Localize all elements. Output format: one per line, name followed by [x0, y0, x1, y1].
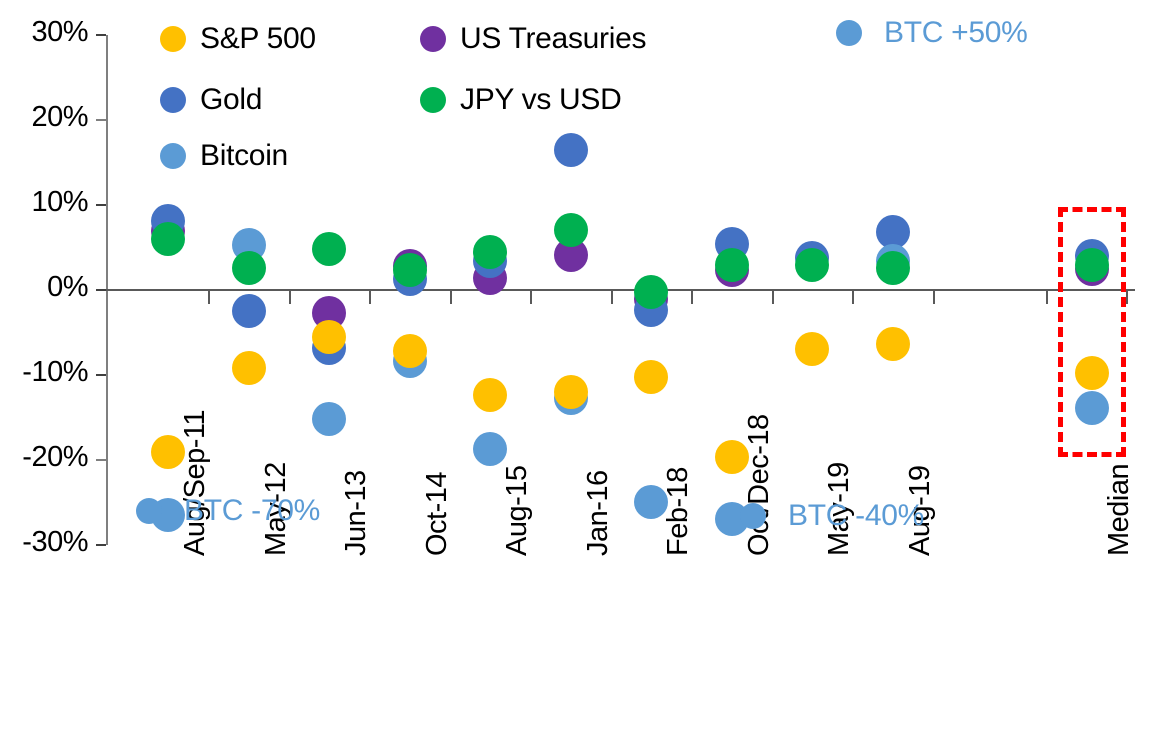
- data-point: [393, 334, 427, 368]
- data-point: [151, 222, 185, 256]
- x-tick-mark: [208, 290, 210, 304]
- x-axis-label: Aug-15: [501, 465, 534, 556]
- x-tick-mark: [933, 290, 935, 304]
- x-tick-mark: [1126, 290, 1128, 304]
- x-tick-mark: [611, 290, 613, 304]
- legend-item-us-treasuries[interactable]: US Treasuries: [420, 22, 646, 56]
- data-point: [715, 248, 749, 282]
- x-tick-mark: [289, 290, 291, 304]
- annotation-label: BTC -40%: [788, 499, 924, 533]
- x-tick-mark: [1046, 290, 1048, 304]
- y-axis-label: 0%: [0, 271, 88, 304]
- data-point: [554, 133, 588, 167]
- data-point: [312, 232, 346, 266]
- data-point: [473, 432, 507, 466]
- data-point: [795, 332, 829, 366]
- legend-label: US Treasuries: [460, 22, 646, 56]
- data-point: [393, 253, 427, 287]
- annotation-label: BTC -70%: [184, 494, 320, 528]
- x-axis-label: Median: [1103, 464, 1136, 556]
- y-tick-mark: [96, 289, 106, 291]
- zero-baseline: [106, 289, 1135, 291]
- legend-swatch-icon: [160, 143, 186, 169]
- annotation-btc-down-70: BTC -70%: [136, 494, 320, 528]
- x-axis-label: Feb-18: [662, 467, 695, 556]
- data-point: [151, 435, 185, 469]
- y-axis-label: 10%: [0, 186, 88, 219]
- legend-item-s-p-500[interactable]: S&P 500: [160, 22, 316, 56]
- data-point: [232, 294, 266, 328]
- legend-label: JPY vs USD: [460, 83, 622, 117]
- data-point: [634, 360, 668, 394]
- y-tick-mark: [96, 544, 106, 546]
- data-point: [634, 275, 668, 309]
- x-tick-mark: [852, 290, 854, 304]
- data-point: [634, 485, 668, 519]
- annotation-btc-down-40: BTC -40%: [740, 499, 924, 533]
- y-tick-mark: [96, 374, 106, 376]
- legend-item-jpy-vs-usd[interactable]: JPY vs USD: [420, 83, 622, 117]
- data-point: [876, 327, 910, 361]
- annotation-label: BTC +50%: [884, 16, 1028, 50]
- legend-swatch-icon: [420, 87, 446, 113]
- data-point: [473, 378, 507, 412]
- data-point: [232, 251, 266, 285]
- annotation-btc-up: BTC +50%: [836, 16, 1028, 50]
- y-tick-mark: [96, 34, 106, 36]
- data-point: [554, 375, 588, 409]
- legend-label: Bitcoin: [200, 139, 288, 173]
- data-point: [795, 248, 829, 282]
- x-tick-mark: [772, 290, 774, 304]
- x-axis-label: Jan-16: [582, 470, 615, 556]
- x-tick-mark: [450, 290, 452, 304]
- x-axis-label: Oct/Dec-18: [743, 414, 776, 556]
- data-point: [232, 351, 266, 385]
- y-axis-label: -30%: [0, 526, 88, 559]
- annotation-marker-icon: [836, 20, 862, 46]
- chart-container: 30%20%10%0%-10%-20%-30%Aug/Sep-11May-12J…: [0, 0, 1151, 739]
- x-tick-mark: [530, 290, 532, 304]
- data-point: [715, 440, 749, 474]
- y-tick-mark: [96, 119, 106, 121]
- legend-swatch-icon: [160, 87, 186, 113]
- legend-swatch-icon: [420, 26, 446, 52]
- x-axis-label: Jun-13: [340, 470, 373, 556]
- y-tick-mark: [96, 459, 106, 461]
- x-tick-mark: [369, 290, 371, 304]
- data-point: [473, 235, 507, 269]
- y-tick-mark: [96, 204, 106, 206]
- data-point: [1075, 391, 1109, 425]
- legend-label: Gold: [200, 83, 262, 117]
- data-point: [312, 320, 346, 354]
- data-point: [554, 213, 588, 247]
- y-axis-label: -10%: [0, 356, 88, 389]
- y-axis-label: 30%: [0, 16, 88, 49]
- x-tick-mark: [691, 290, 693, 304]
- annotation-marker-icon: [136, 498, 162, 524]
- x-axis-label: Aug/Sep-11: [179, 410, 212, 556]
- legend-label: S&P 500: [200, 22, 316, 56]
- data-point: [312, 402, 346, 436]
- y-axis-label: 20%: [0, 101, 88, 134]
- legend-swatch-icon: [160, 26, 186, 52]
- x-axis-label: Oct-14: [421, 472, 454, 556]
- legend-item-gold[interactable]: Gold: [160, 83, 262, 117]
- legend-item-bitcoin[interactable]: Bitcoin: [160, 139, 288, 173]
- y-axis-label: -20%: [0, 441, 88, 474]
- annotation-marker-icon: [740, 503, 766, 529]
- data-point: [876, 251, 910, 285]
